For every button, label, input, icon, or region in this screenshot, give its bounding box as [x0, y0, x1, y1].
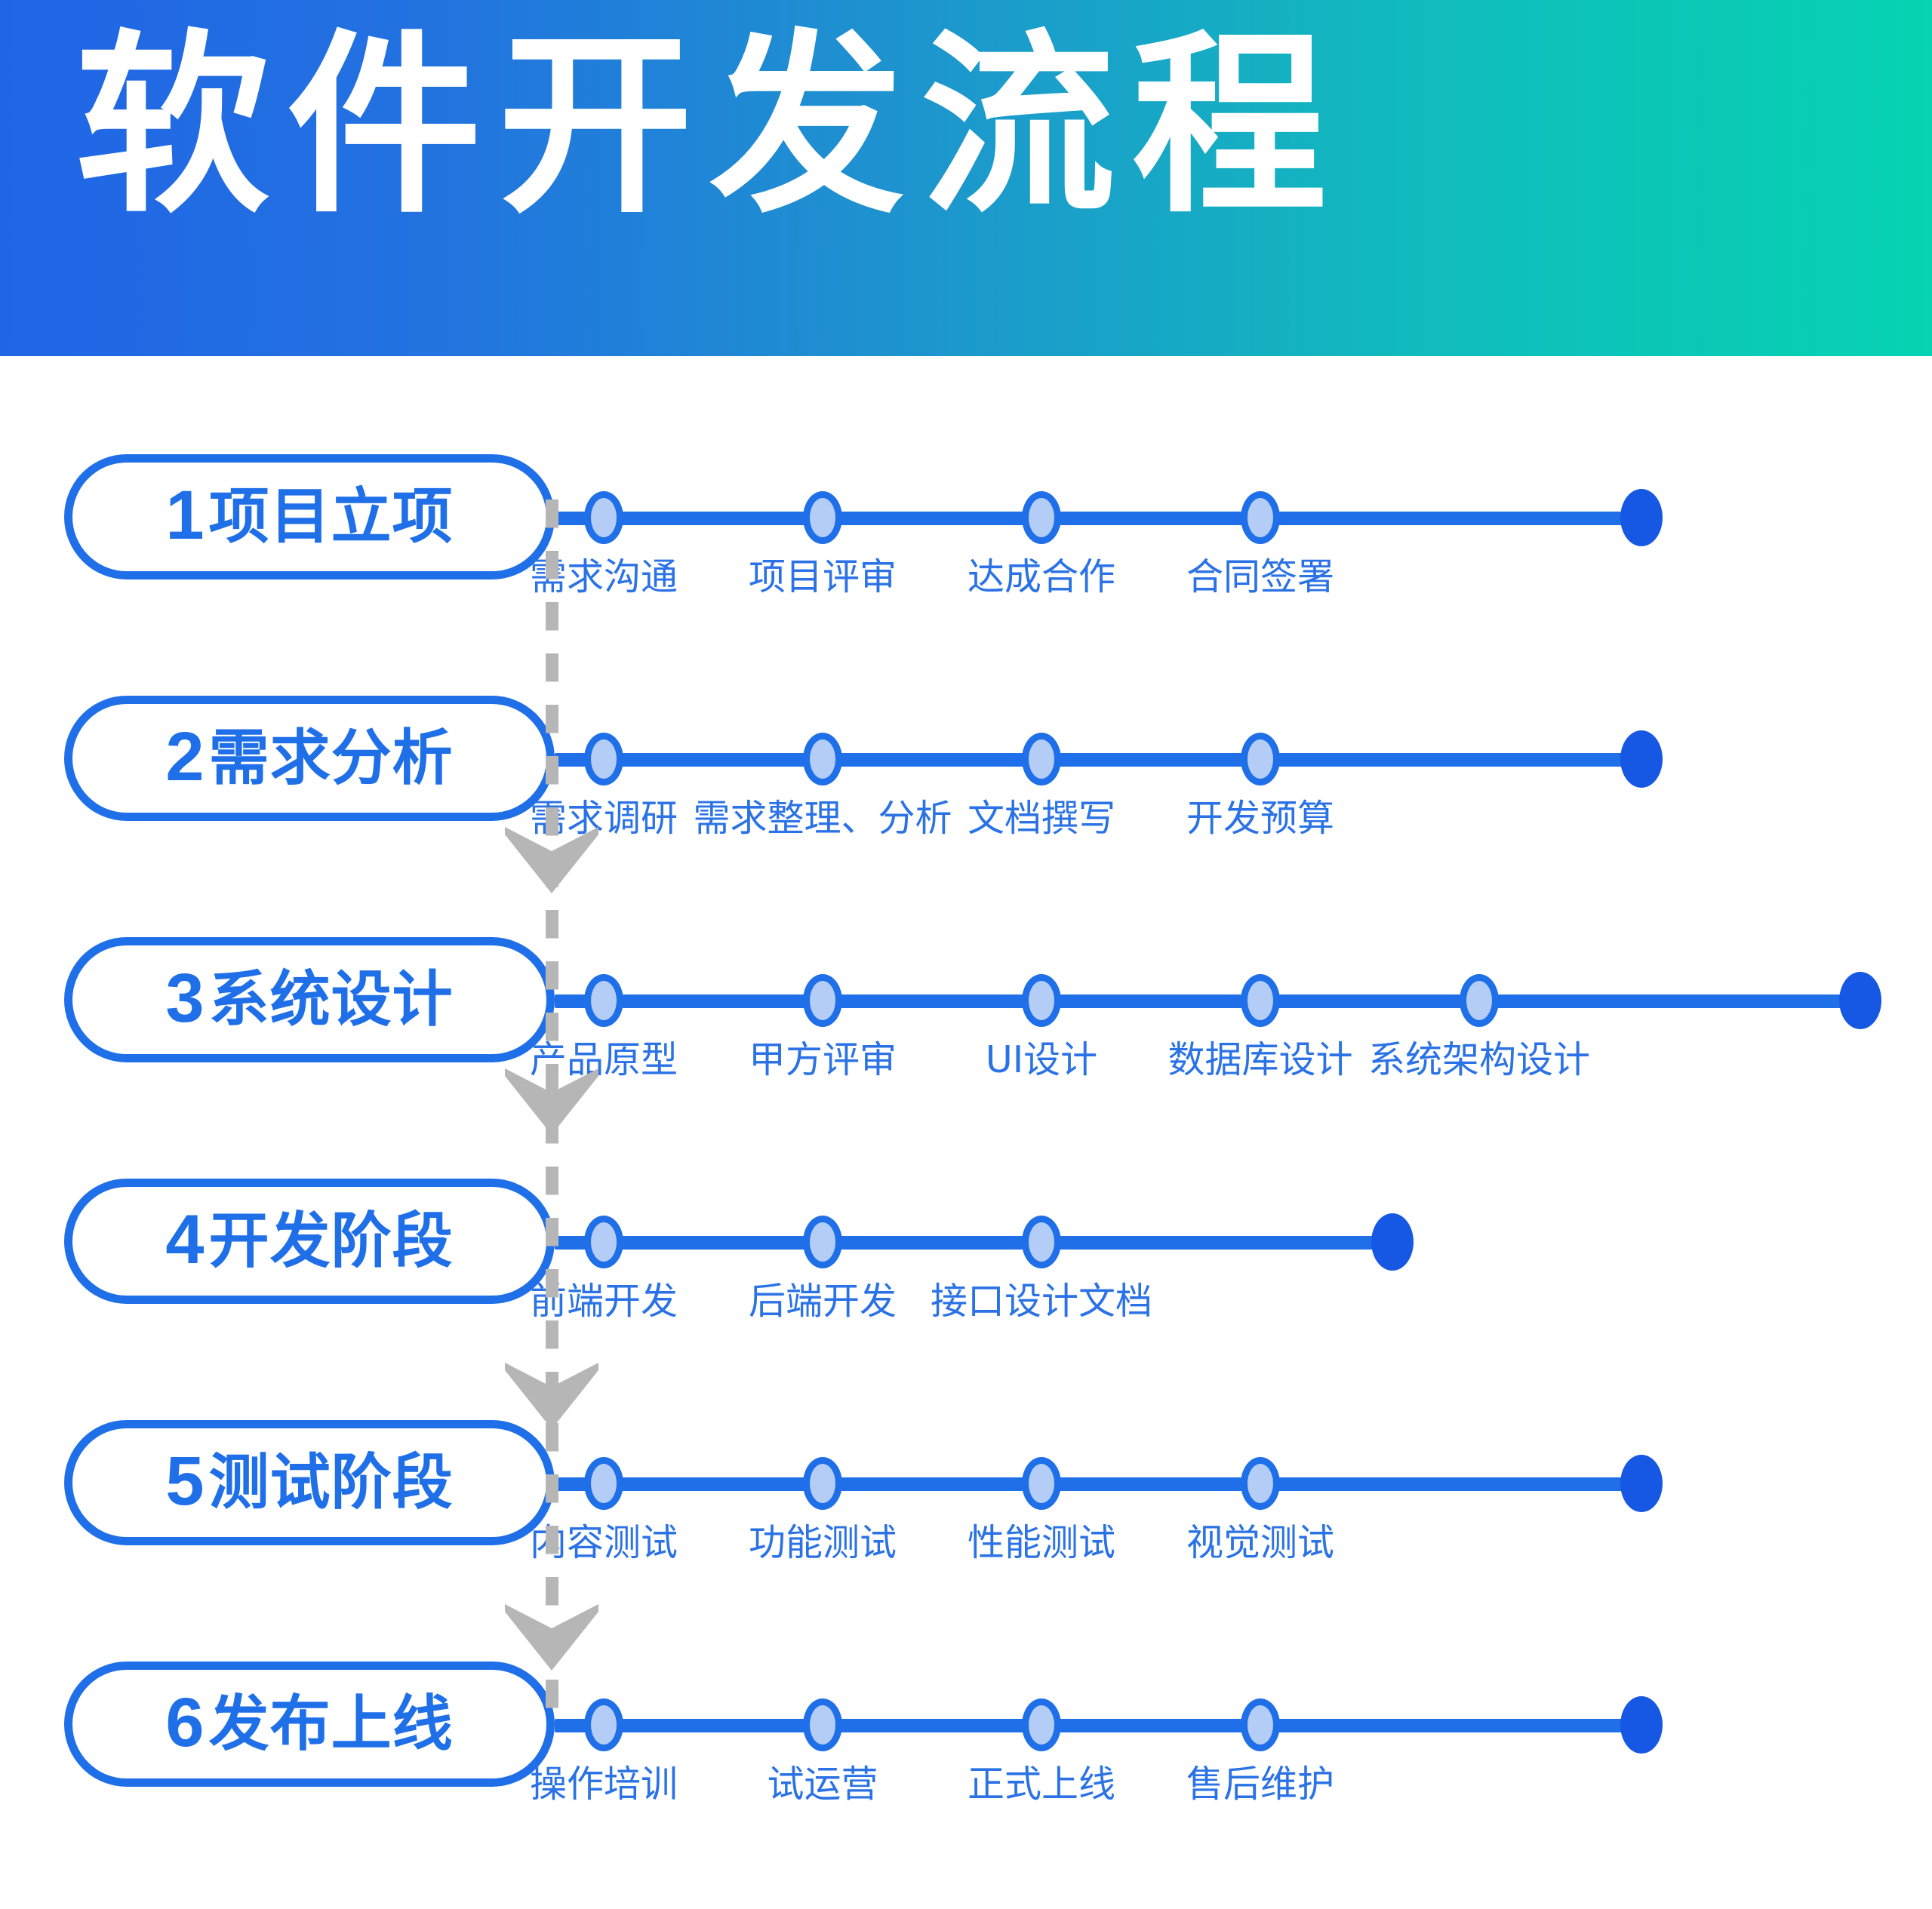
timeline-node-label: 文档撰写: [968, 800, 1115, 837]
timeline-node-label: 操作培训: [530, 1766, 678, 1803]
timeline-node-label: 接口设计文档: [931, 1283, 1152, 1320]
timeline-node[interactable]: [803, 1216, 842, 1268]
timeline-node[interactable]: [1241, 733, 1280, 785]
timeline-end-node: [1839, 972, 1881, 1029]
timeline-node[interactable]: [1022, 491, 1061, 544]
timeline-node-label: 功能测试: [749, 1524, 897, 1561]
page-title: 软件开发流程: [75, 29, 1343, 223]
stage-pill-5[interactable]: 5测试阶段: [64, 1420, 555, 1545]
timeline-node[interactable]: [1460, 974, 1499, 1027]
page-header: 软件开发流程: [0, 0, 1932, 356]
timeline-node-label: 系统架构设计: [1368, 1041, 1590, 1078]
timeline-node[interactable]: [803, 1457, 842, 1510]
stage-timeline-track: [555, 1477, 1641, 1491]
timeline-node-label: 后端开发: [749, 1283, 897, 1320]
stage-timeline-track: [555, 994, 1860, 1008]
timeline-node[interactable]: [803, 733, 842, 785]
flow-stage-row: 4开发阶段前端开发后端开发接口设计文档: [0, 1179, 1932, 1413]
flow-stage-row: 3系统设计产品原型甲方评审UI设计数据库设计系统架构设计: [0, 937, 1932, 1171]
timeline-node[interactable]: [1022, 1457, 1061, 1510]
timeline-node[interactable]: [1022, 1216, 1061, 1268]
flow-diagram: 1项目立项需求沟通项目评审达成合作合同签署2需求分析需求调研需求整理、分析文档撰…: [0, 356, 1932, 1909]
timeline-node-label: 性能测试: [968, 1524, 1115, 1561]
timeline-node[interactable]: [1241, 1457, 1280, 1510]
timeline-node-label: 试运营: [767, 1766, 878, 1803]
timeline-node[interactable]: [584, 733, 623, 785]
timeline-node[interactable]: [803, 974, 842, 1027]
timeline-end-node: [1620, 1696, 1663, 1754]
timeline-node-label: 正式上线: [968, 1766, 1115, 1803]
timeline-node-label: 视觉测试: [1186, 1524, 1334, 1561]
stage-title: 开发阶段: [209, 1211, 454, 1271]
stage-timeline-track: [555, 753, 1641, 767]
timeline-end-node: [1620, 730, 1663, 788]
timeline-node-label: 达成合作: [968, 558, 1115, 595]
timeline-node-label: 甲方评审: [749, 1041, 897, 1078]
timeline-node-label: 需求整理、分析: [693, 800, 952, 837]
timeline-node[interactable]: [584, 974, 623, 1027]
stage-title: 项目立项: [209, 487, 454, 547]
timeline-node[interactable]: [584, 491, 623, 544]
stage-number: 1: [165, 481, 204, 550]
stage-pill-2[interactable]: 2需求分析: [64, 696, 555, 821]
timeline-node[interactable]: [1022, 974, 1061, 1027]
stage-number: 3: [165, 964, 204, 1033]
timeline-end-node: [1620, 1455, 1663, 1512]
timeline-node-label: 项目评审: [749, 558, 897, 595]
timeline-node[interactable]: [1241, 491, 1280, 544]
stage-title: 需求分析: [209, 728, 454, 788]
flow-stage-row: 1项目立项需求沟通项目评审达成合作合同签署: [0, 454, 1932, 688]
stage-number: 6: [165, 1688, 204, 1757]
timeline-node[interactable]: [803, 1698, 842, 1751]
stage-number: 2: [165, 722, 204, 792]
stage-timeline-track: [555, 1719, 1641, 1732]
timeline-node[interactable]: [1022, 733, 1061, 785]
stage-title: 系统设计: [209, 970, 454, 1030]
flow-stage-row: 6发布上线操作培训试运营正式上线售后维护: [0, 1662, 1932, 1895]
timeline-node[interactable]: [1241, 974, 1280, 1027]
timeline-node-label: UI设计: [986, 1041, 1097, 1078]
stage-timeline-track: [555, 1236, 1392, 1250]
flow-stage-row: 5测试阶段内容测试功能测试性能测试视觉测试: [0, 1420, 1932, 1654]
timeline-end-node: [1371, 1213, 1414, 1271]
timeline-node-label: 数据库设计: [1168, 1041, 1352, 1078]
timeline-node[interactable]: [1022, 1698, 1061, 1751]
stage-number: 5: [165, 1446, 204, 1516]
timeline-node[interactable]: [803, 491, 842, 544]
timeline-node[interactable]: [584, 1698, 623, 1751]
stage-title: 测试阶段: [209, 1452, 454, 1513]
stage-pill-4[interactable]: 4开发阶段: [64, 1179, 555, 1304]
flow-stage-row: 2需求分析需求调研需求整理、分析文档撰写开发预算: [0, 696, 1932, 930]
timeline-node-label: 售后维护: [1186, 1766, 1334, 1803]
stage-pill-6[interactable]: 6发布上线: [64, 1662, 555, 1787]
timeline-node[interactable]: [584, 1216, 623, 1268]
timeline-node-label: 合同签署: [1186, 558, 1334, 595]
stage-number: 4: [165, 1205, 204, 1274]
timeline-end-node: [1620, 489, 1663, 546]
timeline-node-label: 开发预算: [1186, 800, 1334, 837]
timeline-node[interactable]: [584, 1457, 623, 1510]
stage-timeline-track: [555, 512, 1641, 525]
timeline-node[interactable]: [1241, 1698, 1280, 1751]
stage-pill-1[interactable]: 1项目立项: [64, 454, 555, 579]
stage-title: 发布上线: [209, 1694, 454, 1754]
stage-pill-3[interactable]: 3系统设计: [64, 937, 555, 1062]
